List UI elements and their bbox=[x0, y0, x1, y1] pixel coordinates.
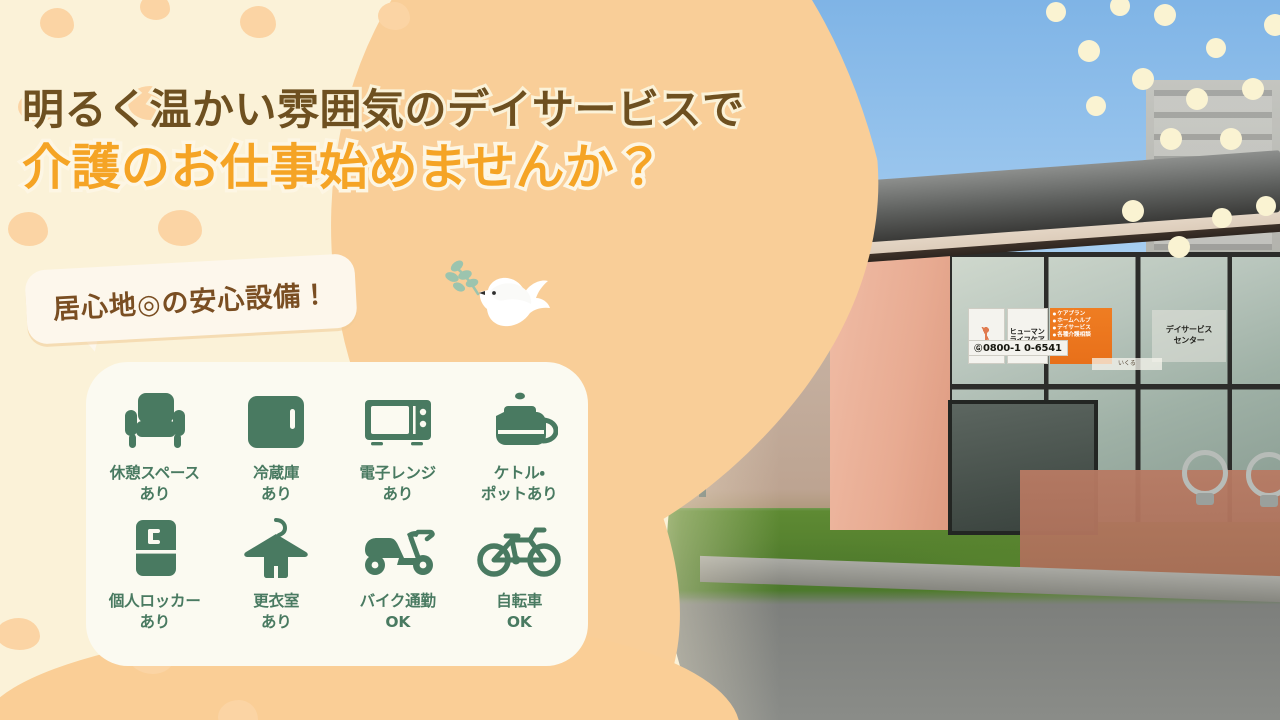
feature-item-refrigerator: 冷蔵庫 あり bbox=[216, 382, 338, 504]
armchair-icon bbox=[117, 382, 193, 456]
feature-label: 冷蔵庫 あり bbox=[253, 463, 299, 504]
feature-label: 個人ロッカー あり bbox=[109, 591, 201, 632]
kettle-icon bbox=[480, 382, 558, 456]
bike-rack-base bbox=[1260, 495, 1278, 507]
feature-item-microwave: 電子レンジ あり bbox=[337, 382, 459, 504]
phone-number: 0800-1 0-6541 bbox=[983, 343, 1062, 354]
banner-canvas: human ヒューマン ライフケア ケアプラン ホームヘルプ デイサービス 各種… bbox=[0, 0, 1280, 720]
headline-block: 明るく温かい雰囲気のデイサービスで 介護のお仕事始めませんか？ bbox=[22, 86, 745, 198]
feature-label: 更衣室 あり bbox=[253, 591, 299, 632]
service-item: 各種介護相談 bbox=[1053, 332, 1110, 339]
headline-line-2: 介護のお仕事始めませんか？ bbox=[22, 138, 745, 198]
microwave-icon bbox=[359, 382, 437, 456]
hanger-icon bbox=[238, 510, 314, 584]
locker-icon bbox=[122, 510, 188, 584]
center-sign-line2: センター bbox=[1174, 336, 1205, 347]
bike-rack bbox=[1182, 450, 1228, 496]
feature-item-rest-space: 休憩スペース あり bbox=[94, 382, 216, 504]
scooter-icon bbox=[355, 510, 441, 584]
feature-label: 休憩スペース あり bbox=[110, 463, 200, 504]
feature-label: バイク通勤 OK bbox=[360, 591, 436, 632]
feature-item-changing-room: 更衣室 あり bbox=[216, 510, 338, 632]
bicycle-icon bbox=[476, 510, 562, 584]
bike-rack-base bbox=[1196, 493, 1214, 505]
facilities-grid: 休憩スペース あり 冷蔵庫 あり bbox=[94, 382, 580, 632]
dove-icon bbox=[432, 250, 552, 334]
feature-label: 電子レンジ あり bbox=[359, 463, 436, 504]
phone-panel: Ⓖ 0800-1 0-6541 bbox=[968, 340, 1068, 356]
feature-label: ケトル・ ポットあり bbox=[481, 463, 558, 504]
feature-item-locker: 個人ロッカー あり bbox=[94, 510, 216, 632]
feature-item-bicycle: 自転車 OK bbox=[459, 510, 581, 632]
feature-label: 自転車 OK bbox=[496, 591, 542, 632]
freedial-icon: Ⓖ bbox=[974, 343, 982, 354]
window-note: いくる bbox=[1092, 358, 1162, 370]
headline-line-1: 明るく温かい雰囲気のデイサービスで bbox=[22, 86, 745, 134]
feature-item-kettle: ケトル・ ポットあり bbox=[459, 382, 581, 504]
dove-svg bbox=[432, 250, 552, 330]
dove-eye bbox=[492, 291, 496, 295]
facilities-card: 休憩スペース あり 冷蔵庫 あり bbox=[86, 362, 588, 666]
center-sign-line1: デイサービス bbox=[1166, 325, 1212, 336]
services-list: ケアプラン ホームヘルプ デイサービス 各種介護相談 bbox=[1053, 311, 1110, 340]
center-sign: デイサービス センター bbox=[1152, 310, 1226, 362]
feature-item-scooter: バイク通勤 OK bbox=[337, 510, 459, 632]
refrigerator-icon bbox=[240, 382, 312, 456]
